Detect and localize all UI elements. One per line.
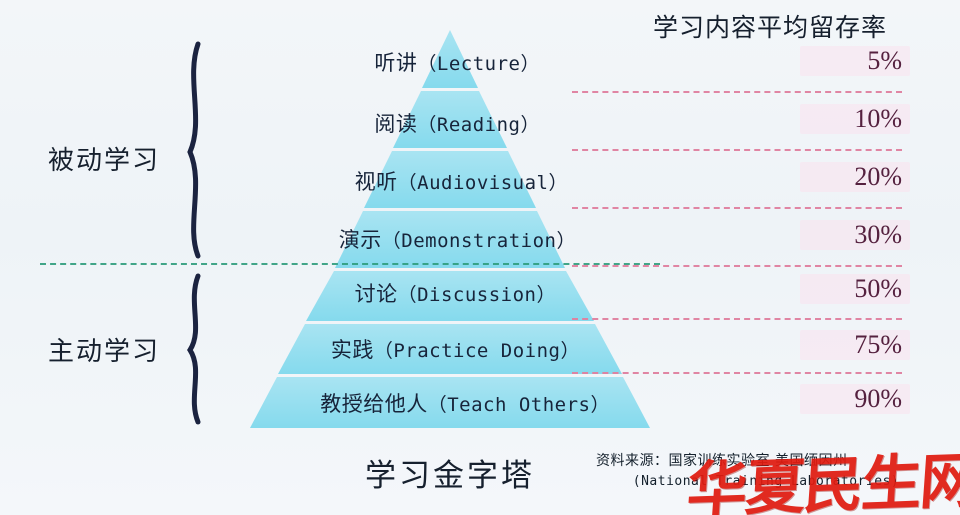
separator-dash-1 — [572, 91, 902, 93]
separator-dash-6 — [572, 372, 902, 374]
tier-6-en: （Practice Doing） — [374, 340, 580, 362]
percent-value-discussion: 50% — [812, 274, 902, 304]
tier-4-en: （Demonstration） — [382, 230, 576, 252]
tier-label-teach-others: 教授给他人（Teach Others） — [170, 388, 610, 418]
separator-dash-3 — [572, 207, 902, 209]
category-label-active-learning: 主动学习 — [48, 331, 160, 368]
tier-2-cn: 阅读 — [374, 112, 417, 136]
percent-value-lecture: 5% — [812, 46, 902, 76]
page-title: 学习金字塔 — [300, 450, 600, 495]
category-label-passive-learning: 被动学习 — [48, 140, 160, 177]
percent-value-reading: 10% — [812, 104, 902, 134]
tier-5-cn: 讨论 — [355, 282, 398, 306]
percent-value-teach-others: 90% — [812, 384, 902, 414]
tier-label-reading: 阅读（Reading） — [228, 108, 540, 138]
tier-7-en: （Teach Others） — [428, 394, 610, 416]
watermark: 华夏民生网 — [685, 432, 960, 515]
tier-1-en: （Lecture） — [417, 53, 540, 75]
percent-value-audiovisual: 20% — [812, 162, 902, 192]
passive-active-divider — [40, 263, 660, 265]
separator-dash-5 — [572, 318, 902, 320]
tier-label-discussion: 讨论（Discussion） — [220, 278, 556, 308]
separator-dash-2 — [572, 149, 902, 151]
tier-2-en: （Reading） — [417, 114, 540, 136]
tier-label-demonstration: 演示（Demonstration） — [180, 224, 576, 254]
tier-label-practice-doing: 实践（Practice Doing） — [190, 334, 580, 364]
tier-5-en: （Discussion） — [398, 284, 556, 306]
separator-dash-4 — [572, 265, 902, 267]
learning-pyramid-infographic: 学习内容平均留存率 听讲（Lecture） 阅读（Reading） — [0, 0, 960, 515]
tier-7-cn: 教授给他人 — [320, 392, 428, 416]
percent-value-practice: 75% — [812, 330, 902, 360]
tier-3-en: （Audiovisual） — [398, 172, 568, 194]
percent-value-demonstration: 30% — [812, 220, 902, 250]
tier-3-cn: 视听 — [355, 170, 398, 194]
tier-1-cn: 听讲 — [374, 51, 417, 75]
tier-6-cn: 实践 — [331, 338, 374, 362]
tier-4-cn: 演示 — [339, 228, 382, 252]
tier-label-lecture: 听讲（Lecture） — [250, 47, 540, 77]
tier-label-audiovisual: 视听（Audiovisual） — [200, 166, 568, 196]
retention-column-title: 学习内容平均留存率 — [600, 8, 940, 44]
